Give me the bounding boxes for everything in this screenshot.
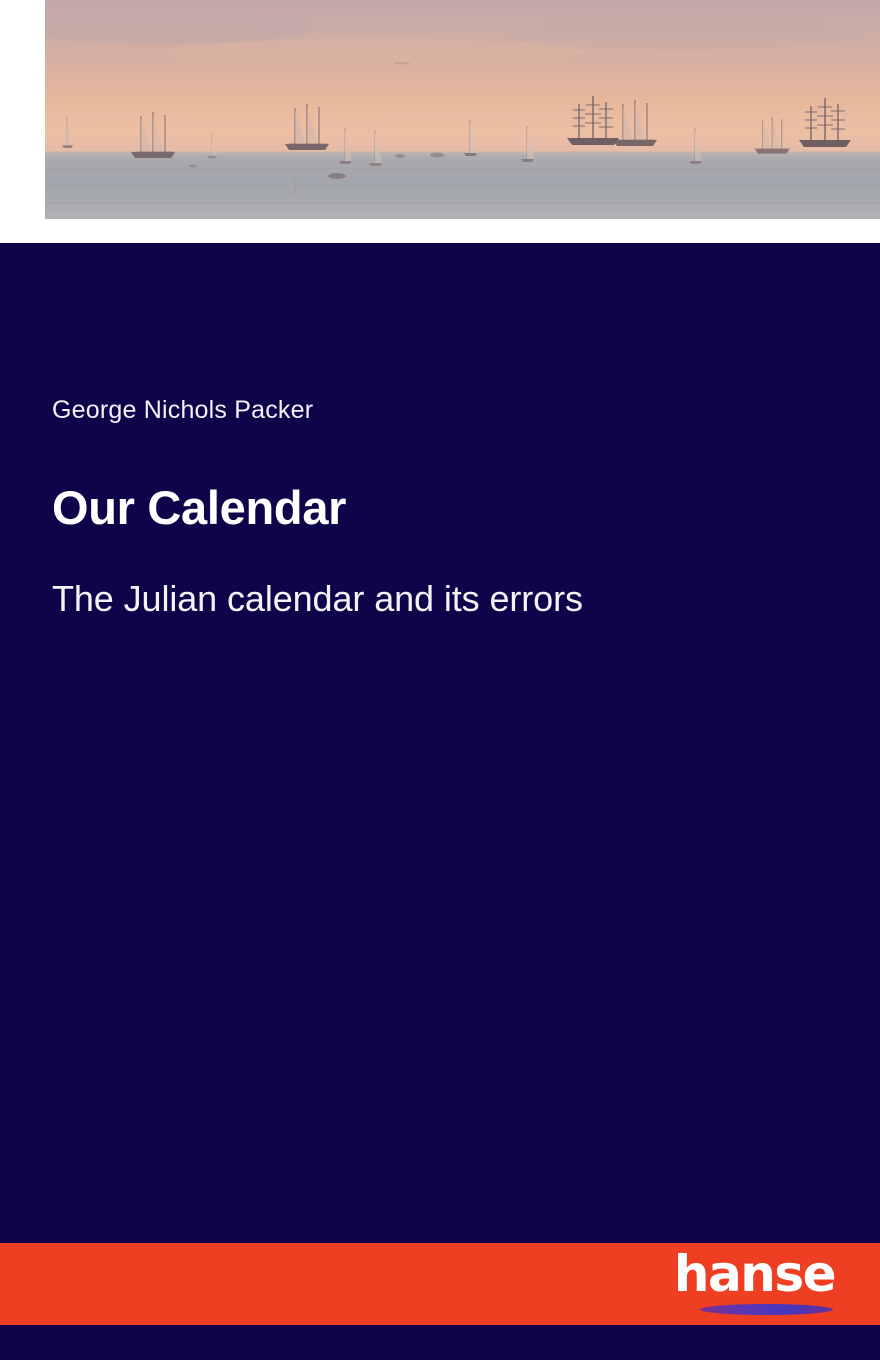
book-cover: George Nichols Packer Our Calendar The J… (0, 0, 880, 1360)
bottom-strip (0, 1325, 880, 1360)
author-name: George Nichols Packer (52, 395, 832, 425)
swoosh-underline-icon (700, 1304, 833, 1315)
cover-photo (45, 0, 880, 219)
seascape-illustration (45, 0, 880, 219)
book-title: Our Calendar (52, 481, 832, 535)
hanse-logo: hanse (688, 1249, 838, 1319)
book-subtitle: The Julian calendar and its errors (52, 577, 832, 620)
publisher-band: hanse (0, 1243, 880, 1325)
cover-text-block: George Nichols Packer Our Calendar The J… (52, 395, 832, 620)
cover-body-panel: George Nichols Packer Our Calendar The J… (0, 243, 880, 1360)
publisher-wordmark: hanse (674, 1249, 835, 1299)
